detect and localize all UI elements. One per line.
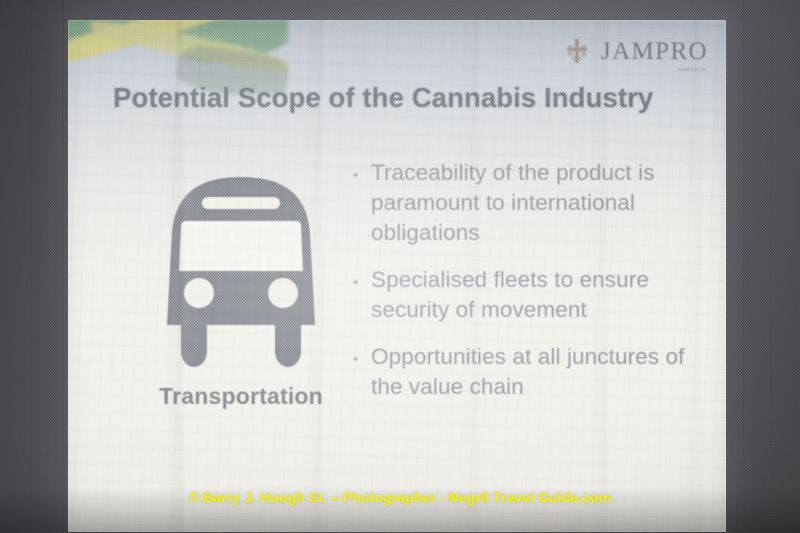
list-item: • Traceability of the product is paramou… [353,158,693,248]
bus-front-icon [155,175,327,371]
jampro-logo: JAMPRO JAMAICA [562,36,708,66]
icon-panel-label: Transportation [126,383,356,410]
jampro-subtext: JAMAICA [677,67,706,73]
slide-title: Potential Scope of the Cannabis Industry [113,82,653,114]
icon-panel: Transportation [126,175,356,410]
jampro-wordmark: JAMPRO [601,38,708,65]
bullet-marker-icon: • [353,342,371,367]
bullet-text: Opportunities at all junctures of the va… [371,342,693,402]
list-item: • Opportunities at all junctures of the … [353,342,693,402]
bullet-marker-icon: • [353,265,371,290]
crest-emblem-icon [562,36,592,66]
bullet-text: Specialised fleets to ensure security of… [371,265,693,325]
photographer-watermark: © Barry J. Hough Sr. – Photographer - Ne… [0,489,800,505]
bullet-list: • Traceability of the product is paramou… [353,158,693,418]
screenshot-root: JAMPRO JAMAICA Potential Scope of the Ca… [0,0,800,533]
bullet-marker-icon: • [353,158,371,183]
bullet-text: Traceability of the product is paramount… [371,158,693,248]
list-item: • Specialised fleets to ensure security … [353,265,693,325]
projected-slide: JAMPRO JAMAICA Potential Scope of the Ca… [68,20,726,532]
